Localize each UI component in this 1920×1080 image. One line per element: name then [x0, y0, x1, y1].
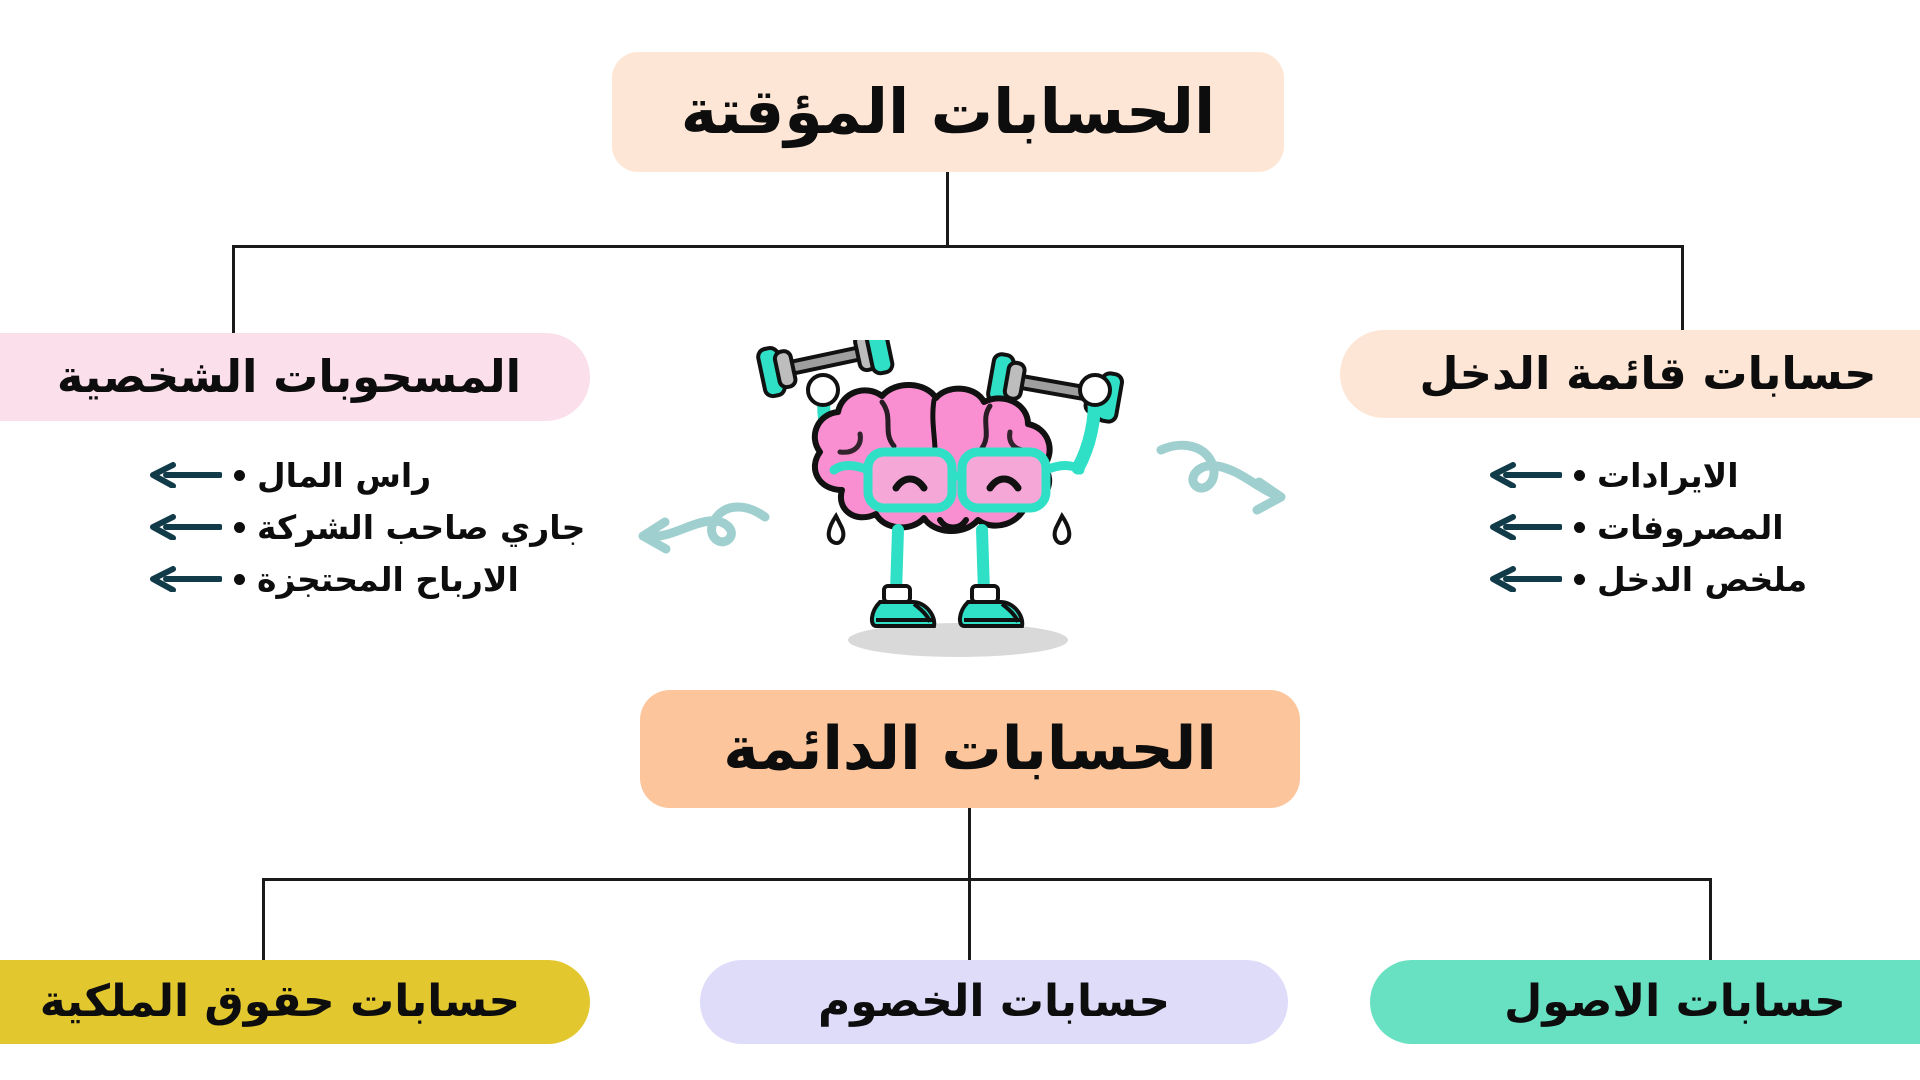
list-item[interactable]: الارباح المحتجزة [150, 556, 519, 602]
connector-bottom-right-drop [1709, 878, 1712, 964]
drawings-bullet-list: راس المال جاري صاحب الشركة الارباح المحت… [150, 452, 620, 602]
connector-bottom-left-drop [262, 878, 265, 964]
list-item[interactable]: جاري صاحب الشركة [150, 504, 585, 550]
node-personal-drawings[interactable]: المسحوبات الشخصية [0, 333, 590, 421]
connector-top-stem [946, 172, 949, 246]
node-permanent-accounts[interactable]: الحسابات الدائمة [640, 690, 1300, 808]
connector-bottom-horizontal [262, 878, 1712, 881]
list-item-label: ملخص الدخل [1597, 563, 1807, 596]
income-bullet-list: الايرادات المصروفات ملخص الدخل [1490, 452, 1910, 602]
arrow-left-icon [1490, 514, 1562, 540]
list-item[interactable]: ملخص الدخل [1490, 556, 1807, 602]
list-item[interactable]: المصروفات [1490, 504, 1784, 550]
list-item-label: جاري صاحب الشركة [257, 511, 585, 544]
node-asset-accounts[interactable]: حسابات الاصول [1370, 960, 1920, 1044]
list-item-label: المصروفات [1597, 511, 1784, 544]
node-liability-accounts[interactable]: حسابات الخصوم [700, 960, 1288, 1044]
arrow-left-icon [150, 462, 222, 488]
arrow-left-icon [150, 566, 222, 592]
bullet-dot-icon [1574, 470, 1585, 481]
list-item-label: الارباح المحتجزة [257, 563, 519, 596]
list-item[interactable]: راس المال [150, 452, 431, 498]
node-temporary-accounts[interactable]: الحسابات المؤقتة [612, 52, 1284, 172]
bullet-dot-icon [234, 470, 245, 481]
bullet-dot-icon [234, 574, 245, 585]
node-income-statement-accounts[interactable]: حسابات قائمة الدخل [1340, 330, 1920, 418]
list-item[interactable]: الايرادات [1490, 452, 1739, 498]
arrow-left-icon [1490, 462, 1562, 488]
bullet-dot-icon [1574, 522, 1585, 533]
arrow-left-icon [1490, 566, 1562, 592]
diagram-canvas: الحسابات المؤقتة المسحوبات الشخصية راس ا… [0, 0, 1920, 1080]
connector-bottom-middle-drop [968, 878, 971, 964]
connector-top-left-drop [232, 245, 235, 343]
brain-lifting-dumbbells-mascot [690, 340, 1230, 670]
bullet-dot-icon [234, 522, 245, 533]
arrow-left-icon [150, 514, 222, 540]
node-equity-accounts[interactable]: حسابات حقوق الملكية [0, 960, 590, 1044]
list-item-label: الايرادات [1597, 459, 1739, 492]
list-item-label: راس المال [257, 459, 431, 492]
connector-top-horizontal [232, 245, 1684, 248]
connector-top-right-drop [1681, 245, 1684, 343]
bullet-dot-icon [1574, 574, 1585, 585]
